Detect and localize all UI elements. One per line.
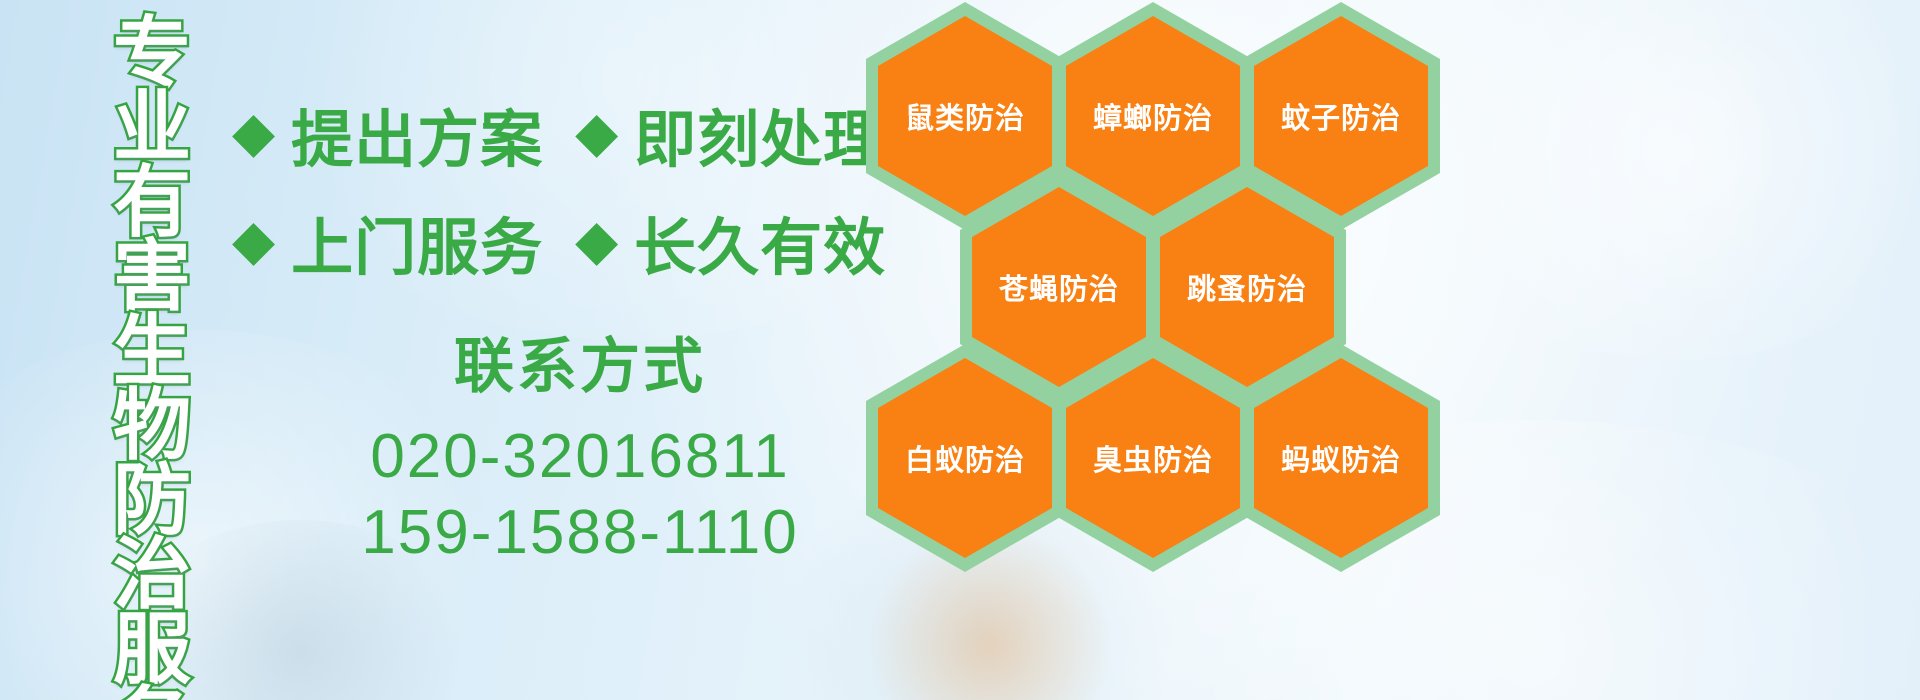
hex-label: 鼠类防治 xyxy=(905,95,1025,137)
phone-landline[interactable]: 020-32016811 xyxy=(300,419,860,495)
hex-label: 蚊子防治 xyxy=(1281,95,1401,137)
contact-block: 联系方式 020-32016811 159-1588-1110 xyxy=(300,318,860,570)
diamond-bullet-icon: ◆ xyxy=(232,104,275,160)
vertical-headline-char: 物 xyxy=(113,388,191,462)
feature-item-door-to-door-service: ◆ 上门服务 xyxy=(232,197,543,287)
hex-label: 蚂蚁防治 xyxy=(1281,437,1401,479)
diamond-bullet-icon: ◆ xyxy=(575,212,618,268)
hex-label: 苍蝇防治 xyxy=(999,266,1119,308)
vertical-headline: 专 业 有 害 生 物 防 治 服 务 xyxy=(104,16,200,700)
vertical-headline-char: 害 xyxy=(113,239,191,313)
hex-inner: 跳蚤防治 xyxy=(1160,187,1334,387)
hex-label: 白蚁防治 xyxy=(905,437,1025,479)
hex-label: 蟑螂防治 xyxy=(1093,95,1213,137)
vertical-headline-char: 治 xyxy=(113,537,191,611)
feature-list: ◆ 提出方案 ◆ 即刻处理 ◆ 上门服务 ◆ 长久有效 xyxy=(232,80,872,296)
feature-item-immediate-handling: ◆ 即刻处理 xyxy=(575,89,886,179)
hex-inner: 鼠类防治 xyxy=(878,16,1052,216)
hex-label: 跳蚤防治 xyxy=(1187,266,1307,308)
hex-label: 臭虫防治 xyxy=(1093,437,1213,479)
vertical-headline-char: 防 xyxy=(113,463,191,537)
hex-inner: 臭虫防治 xyxy=(1066,358,1240,558)
vertical-headline-char: 务 xyxy=(113,686,191,700)
feature-label: 上门服务 xyxy=(291,197,543,287)
hex-inner: 蚂蚁防治 xyxy=(1254,358,1428,558)
diamond-bullet-icon: ◆ xyxy=(575,104,618,160)
vertical-headline-char: 有 xyxy=(113,165,191,239)
hex-inner: 蟑螂防治 xyxy=(1066,16,1240,216)
feature-item-long-lasting-effect: ◆ 长久有效 xyxy=(575,197,886,287)
feature-label: 即刻处理 xyxy=(634,89,886,179)
feature-label: 提出方案 xyxy=(291,89,543,179)
diamond-bullet-icon: ◆ xyxy=(232,212,275,268)
vertical-headline-char: 专 xyxy=(113,16,191,90)
feature-item-propose-plan: ◆ 提出方案 xyxy=(232,89,543,179)
phone-mobile[interactable]: 159-1588-1110 xyxy=(300,495,860,571)
vertical-headline-char: 生 xyxy=(113,314,191,388)
vertical-headline-char: 业 xyxy=(113,90,191,164)
hex-inner: 苍蝇防治 xyxy=(972,187,1146,387)
feature-row: ◆ 提出方案 ◆ 即刻处理 xyxy=(232,80,872,188)
pest-control-banner: 专 业 有 害 生 物 防 治 服 务 ◆ 提出方案 ◆ 即刻处理 ◆ 上门服务 xyxy=(0,0,1920,700)
feature-row: ◆ 上门服务 ◆ 长久有效 xyxy=(232,188,872,296)
hex-inner: 白蚁防治 xyxy=(878,358,1052,558)
vertical-headline-char: 服 xyxy=(113,612,191,686)
contact-title: 联系方式 xyxy=(300,318,860,405)
service-honeycomb: 鼠类防治 蟑螂防治 蚊子防治 苍蝇防治 跳蚤防治 白蚁防治 xyxy=(862,0,1482,554)
hex-inner: 蚊子防治 xyxy=(1254,16,1428,216)
feature-label: 长久有效 xyxy=(634,197,886,287)
